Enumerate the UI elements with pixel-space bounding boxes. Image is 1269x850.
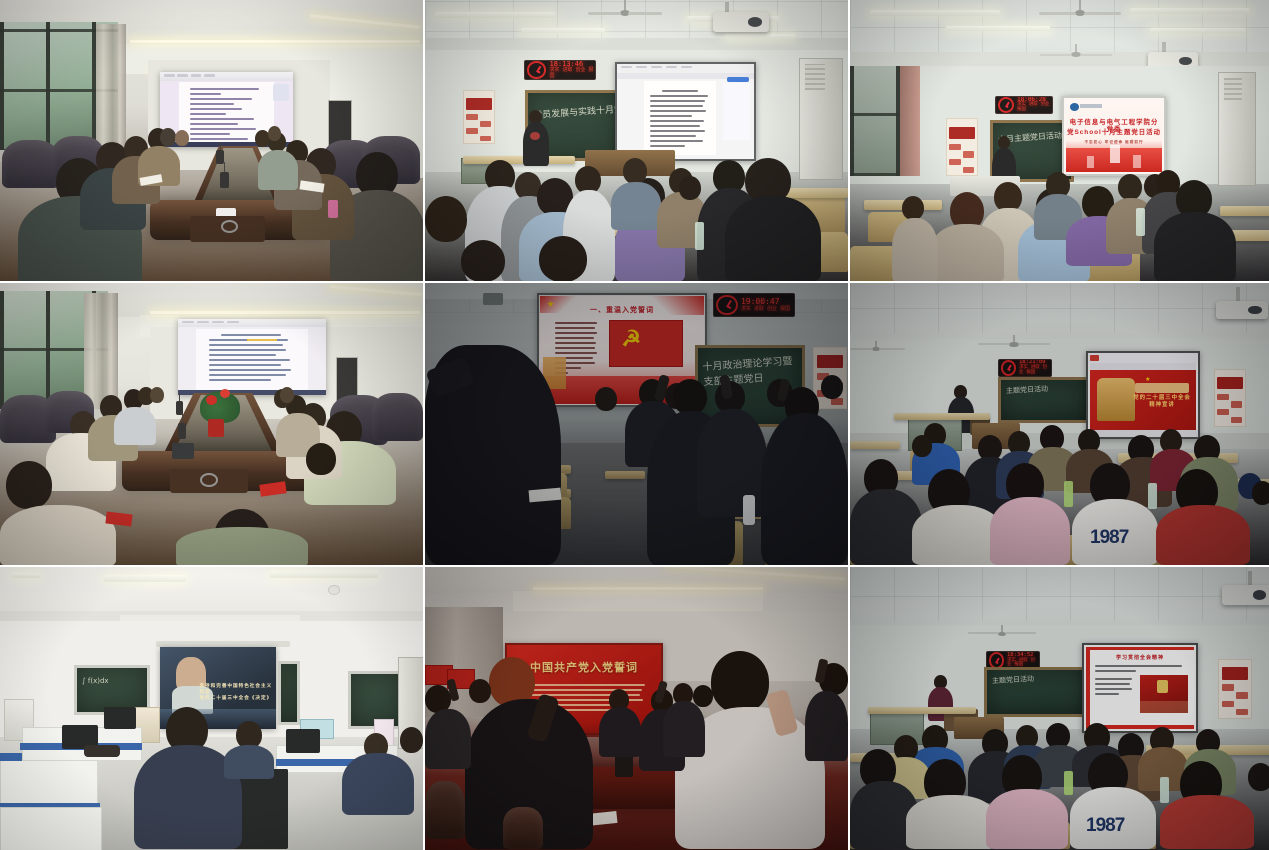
photo-cell-1[interactable]: 长条会议桌两侧就座的教师干部，正面大屏投影文档	[0, 0, 423, 281]
photo-cell-8[interactable]: 中国共产党入党誓词	[425, 567, 848, 850]
photo-cell-6[interactable]: 18:21:09 求实 进取 创业 报国 主题党日活动 党的二十届三中全会精神宣…	[850, 283, 1269, 565]
led-clock-display: 18:21:09 求实 进取 创业 报国	[998, 359, 1052, 377]
photo-cell-3[interactable]: 18:06:28 求实 进取 创业 报国 十月主题党日活动 电子信息与电气工程学…	[850, 0, 1269, 281]
slide-title: 党的二十届三中全会精神宣讲	[1132, 395, 1191, 408]
projection-screen: 党的二十届三中全会精神宣讲 ★	[1086, 351, 1200, 439]
slide-title: 学习贯彻全会精神	[1086, 654, 1194, 661]
photo-cell-7[interactable]: 坚持和完善中国特色社会主义制度 党的二十届三中全会《决定》 ∫ f(x)dx	[0, 567, 423, 850]
projector-icon	[1216, 301, 1268, 319]
projector-icon	[713, 12, 769, 32]
led-clock-display: 18:06:28 求实 进取 创业 报国	[995, 96, 1053, 114]
slide-title: 坚持和完善中国特色社会主义制度	[199, 683, 272, 695]
shirt-number-text: 1987	[1090, 527, 1138, 549]
led-subtitle: 求实 进取 创业 报国	[1019, 366, 1051, 375]
projection-screen	[178, 319, 326, 395]
led-subtitle: 求实 进取 创业 报国	[549, 68, 595, 79]
projection-screen: 学习贯彻全会精神	[1082, 643, 1198, 733]
photo-collage-grid: 长条会议桌两侧就座的教师干部，正面大屏投影文档	[0, 0, 1269, 846]
photo-cell-5[interactable]: ★ 一、重温入党誓词 ☭	[425, 283, 848, 565]
slide-title: 一、重温入党誓词	[540, 305, 704, 315]
photo-cell-9[interactable]: 18:34:52 求实 进取 创业 报国 主题党日活动 学习贯彻全会精神	[850, 567, 1269, 850]
photo-cell-2[interactable]: 18:13:46 求实 进取 创业 报国 党员发展与实践十月党日学习	[425, 0, 848, 281]
slide-subtitle: 党School十月主题党日活动	[1066, 129, 1162, 136]
led-subtitle: 求实 进取 创业 报国	[1017, 103, 1052, 112]
projection-screen: 电子信息与电气工程学院分党委 党School十月主题党日活动 不忘初心 牢记使命…	[1062, 96, 1166, 176]
led-clock-display: 18:13:46 求实 进取 创业 报国	[524, 60, 596, 80]
slide-subtitle: 党的二十届三中全会《决定》	[199, 695, 272, 701]
projector-icon	[1222, 585, 1269, 605]
projection-screen	[615, 62, 756, 161]
shirt-number-text: 1987	[1086, 815, 1134, 837]
doc-ribbon	[160, 72, 293, 81]
led-clock-display: 19:00:47 求实 进取 创业 报国	[713, 293, 795, 317]
led-subtitle: 求实 进取 创业 报国	[741, 307, 794, 312]
photo-cell-4[interactable]: 会议桌两侧教师记录，桌上摆放鲜花	[0, 283, 423, 565]
